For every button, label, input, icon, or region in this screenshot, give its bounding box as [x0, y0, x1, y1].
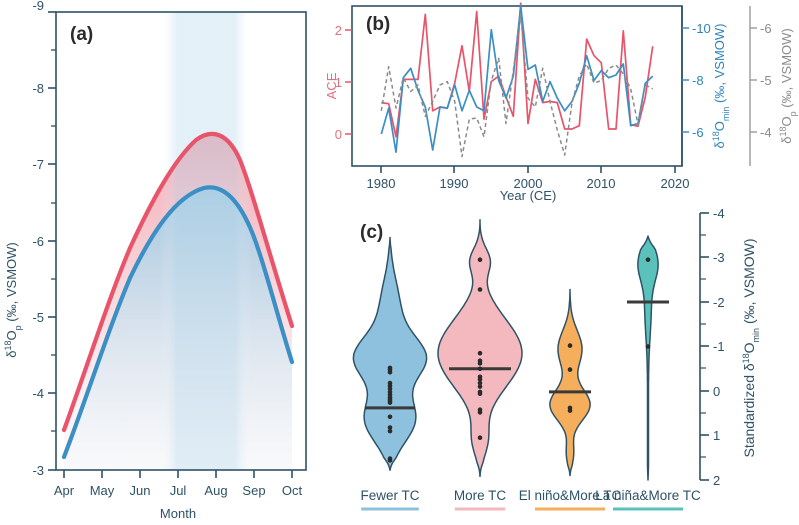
ytick-a-5: -4: [32, 386, 44, 401]
panel-b-left-ticks: [345, 30, 352, 134]
legend-label-1: More TC: [454, 488, 507, 503]
panel-c-yticks: [700, 213, 709, 480]
btick-min-8: -8: [692, 73, 704, 88]
yaxis-o: O: [4, 330, 19, 340]
panel-c-svg: (c) -4 -3: [330, 198, 799, 525]
legend-label-0: Fewer TC: [360, 488, 419, 503]
yaxis-delta: δ: [4, 350, 19, 357]
yaxis-tail: (‰, VSMOW): [4, 242, 19, 325]
ytick-a-3: -6: [32, 234, 44, 249]
violin-point: [478, 384, 483, 389]
btick-min-10: -10: [692, 21, 711, 36]
panel-b-right2-axis-label: δ18Op (‰, VSMOW): [778, 28, 798, 143]
panel-a-ytick-labels: -9 -8 -7 -6 -5 -4 -3: [32, 0, 44, 478]
panel-a-svg: -9 -8 -7 -6 -5 -4 -3 Apr May: [0, 0, 330, 525]
svg-text:ACE: ACE: [324, 72, 339, 99]
violin-point: [388, 415, 393, 420]
panel-c-ytick-labels: -4 -3 -2 -1 0 1 2: [713, 206, 725, 488]
panel-b-line-d18O-min: [381, 6, 652, 152]
panel-b-right1-ticks: [682, 28, 689, 132]
btick-p-5: -5: [760, 73, 772, 88]
xtick-a-4: Aug: [204, 483, 227, 498]
violin-point: [478, 367, 483, 372]
svg-text:δ18Op (‰, VSMOW): δ18Op (‰, VSMOW): [3, 242, 23, 357]
violin-point: [388, 400, 393, 405]
xtick-a-0: Apr: [54, 483, 75, 498]
btick-ace-0: 0: [335, 127, 342, 142]
violin-point: [478, 435, 483, 440]
panel-c-violins: [353, 220, 669, 480]
violin-point: [478, 410, 483, 415]
figure-canvas: -9 -8 -7 -6 -5 -4 -3 Apr May: [0, 0, 799, 525]
panel-b-right2-ticks: [750, 28, 757, 132]
btick-min-6: -6: [692, 125, 704, 140]
panel-c-legend: Fewer TCMore TCEl niño&More TCLa niña&Mo…: [360, 488, 701, 509]
panel-c: (c) -4 -3: [330, 198, 799, 525]
violin-point: [478, 391, 483, 396]
btick-year-1990: 1990: [440, 176, 469, 191]
xtick-a-6: Oct: [282, 483, 303, 498]
panel-b: 2 1 0 ACE -10 -8 -6 δ18Omin (‰, VSM: [330, 0, 799, 200]
panel-b-left-axis-label: ACE: [324, 72, 339, 99]
panel-b-label: (b): [366, 14, 390, 35]
violin-point: [646, 257, 651, 262]
panel-c-label: (c): [360, 222, 383, 243]
ctick-2: -2: [713, 295, 725, 310]
ctick-6: 2: [713, 473, 720, 488]
svg-text:δ18Op (‰, VSMOW): δ18Op (‰, VSMOW): [778, 28, 798, 143]
ytick-a-6: -3: [32, 463, 44, 478]
ctick-4: 0: [713, 384, 720, 399]
violin-point: [646, 344, 651, 349]
xtick-a-2: Jun: [130, 483, 151, 498]
panel-b-right2-tick-labels: -6 -5 -4: [760, 21, 772, 140]
btick-year-2010: 2010: [587, 176, 616, 191]
btick-p-4: -4: [760, 125, 772, 140]
svg-text:δ18Omin (‰, VSMOW): δ18Omin (‰, VSMOW): [711, 24, 731, 149]
xtick-a-1: May: [90, 483, 115, 498]
legend-label-3: La niña&More TC: [595, 488, 701, 503]
ctick-3: -1: [713, 339, 725, 354]
panel-a: -9 -8 -7 -6 -5 -4 -3 Apr May: [0, 0, 330, 525]
panel-c-yaxis-label: Standardized δ18Omin (‰, VSMOW): [741, 238, 761, 457]
xtick-a-3: Jul: [170, 483, 187, 498]
panel-a-label: (a): [70, 24, 93, 45]
ctick-0: -4: [713, 206, 725, 221]
violin-point: [388, 458, 393, 463]
violin-point: [388, 370, 393, 375]
panel-a-xtick-labels: Apr May Jun Jul Aug Sep Oct: [54, 483, 303, 498]
panel-b-line-ACE: [381, 3, 652, 137]
violin-point: [478, 351, 483, 356]
violin-body-3: [638, 236, 658, 480]
btick-year-2020: 2020: [661, 176, 690, 191]
violin-point: [478, 257, 483, 262]
panel-a-areas: [64, 12, 292, 470]
violin-point: [568, 408, 573, 413]
panel-a-xaxis-label: Month: [160, 506, 196, 521]
violin-body-0: [353, 238, 426, 471]
panel-b-series: [381, 3, 652, 156]
panel-b-frame: [352, 6, 682, 166]
panel-b-xticks: [381, 166, 675, 173]
violin-point: [478, 287, 483, 292]
ytick-a-4: -5: [32, 310, 44, 325]
panel-a-yaxis-label: δ18Op (‰, VSMOW): [3, 242, 23, 357]
panel-b-right1-axis-label: δ18Omin (‰, VSMOW): [711, 24, 731, 149]
ytick-a-1: -8: [32, 81, 44, 96]
violin-point: [568, 367, 573, 372]
panel-b-svg: 2 1 0 ACE -10 -8 -6 δ18Omin (‰, VSM: [330, 0, 799, 200]
violin-point: [388, 429, 393, 434]
svg-text:Standardized δ18Omin (‰, VSMOW: Standardized δ18Omin (‰, VSMOW): [741, 238, 761, 457]
ctick-5: 1: [713, 428, 720, 443]
panel-b-right1-tick-labels: -10 -8 -6: [692, 21, 711, 140]
ctick-1: -3: [713, 250, 725, 265]
xtick-a-5: Sep: [242, 483, 265, 498]
yaxis-sup: 18: [3, 340, 13, 350]
peak-season-band: [160, 12, 252, 470]
violin-point: [568, 343, 573, 348]
panel-a-yticks: [48, 12, 56, 470]
panel-a-xticks: [64, 470, 292, 478]
ytick-a-2: -7: [32, 157, 44, 172]
violin-body-2: [550, 290, 590, 476]
btick-ace-2: 2: [335, 23, 342, 38]
btick-year-1980: 1980: [367, 176, 396, 191]
btick-p-6: -6: [760, 21, 772, 36]
violin-point: [478, 361, 483, 366]
ytick-a-0: -9: [32, 0, 44, 13]
